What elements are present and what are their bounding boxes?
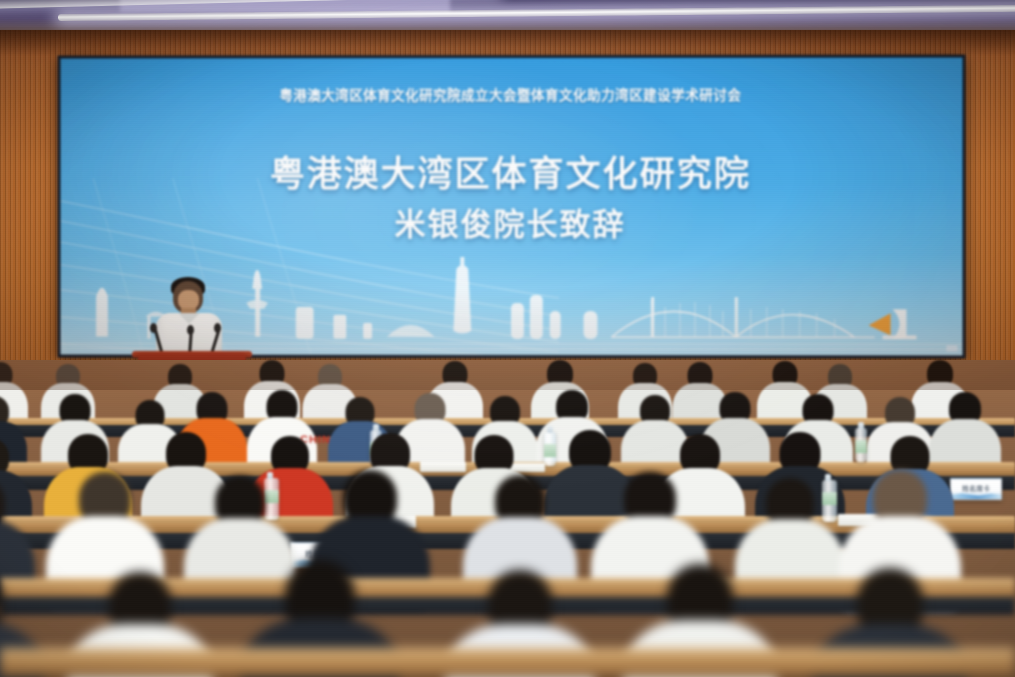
conference-hall-photo: 粤港澳大湾区体育文化研究院成立大会暨体育文化助力湾区建设学术研讨会 粤港澳大湾区…: [0, 0, 1015, 677]
ceiling: [0, 0, 1015, 34]
wall-vignette: [0, 30, 1015, 390]
